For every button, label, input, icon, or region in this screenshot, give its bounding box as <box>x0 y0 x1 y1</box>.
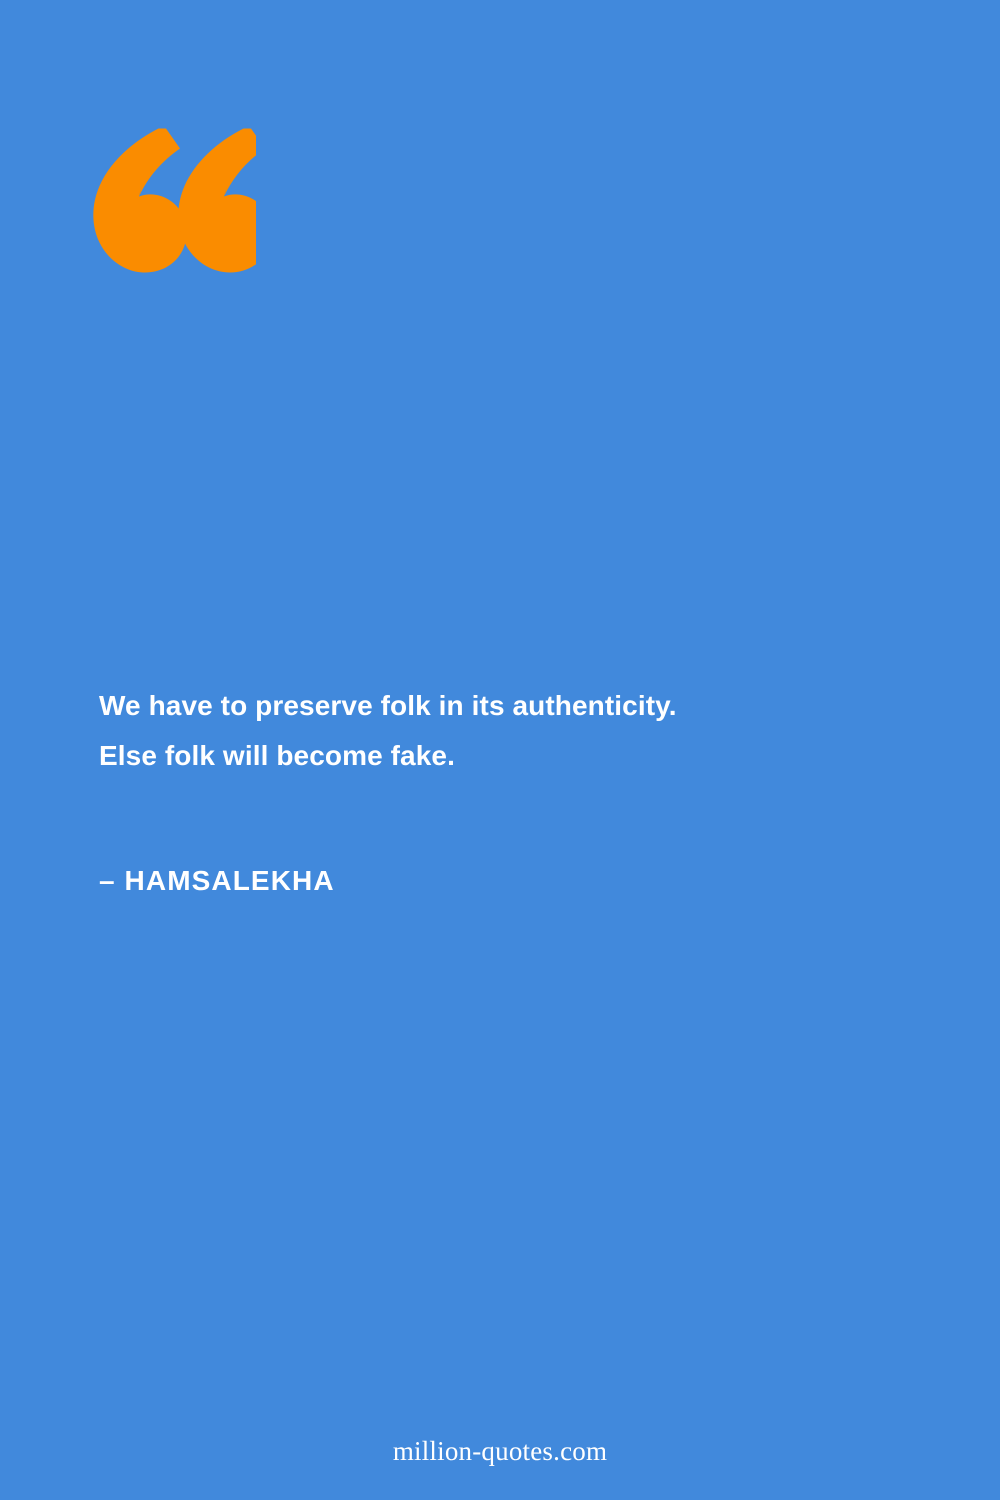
footer: million-quotes.com <box>0 1434 1000 1468</box>
quote-card: We have to preserve folk in its authenti… <box>0 0 1000 1500</box>
quote-line: Else folk will become fake. <box>99 731 899 781</box>
quote-author: – HAMSALEKHA <box>99 863 335 899</box>
quote-text: We have to preserve folk in its authenti… <box>99 681 899 781</box>
double-quote-open-icon <box>92 126 256 276</box>
site-watermark: million-quotes.com <box>393 1436 607 1466</box>
quote-line: We have to preserve folk in its authenti… <box>99 681 899 731</box>
